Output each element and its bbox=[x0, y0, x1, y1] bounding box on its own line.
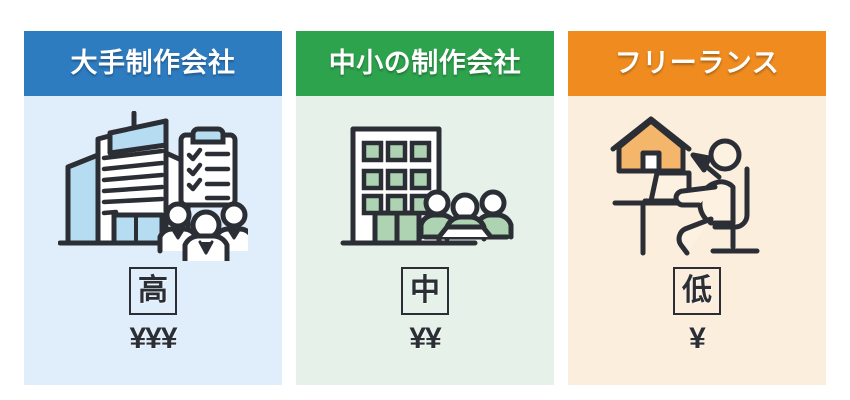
panel-small-medium-production-company: 中小の制作会社 bbox=[296, 31, 554, 385]
price-label-2: ¥¥ bbox=[409, 324, 440, 354]
level-box-2: 中 bbox=[401, 267, 449, 315]
level-box-3: 低 bbox=[673, 267, 721, 315]
small-office-building-meeting-icon bbox=[325, 108, 525, 263]
panel-header-2: 中小の制作会社 bbox=[296, 31, 554, 96]
price-label-3: ¥ bbox=[689, 324, 705, 354]
level-label-1: 高 bbox=[138, 276, 168, 306]
panel-body-1: 高 ¥¥¥ bbox=[24, 96, 282, 385]
comparison-board: 大手制作会社 bbox=[0, 0, 850, 400]
panel-title-3: フリーランス bbox=[615, 50, 779, 77]
level-box-1: 高 bbox=[129, 267, 177, 315]
freelancer-desk-home-icon bbox=[597, 108, 797, 263]
panel-header-3: フリーランス bbox=[568, 31, 826, 96]
panel-body-3: 低 ¥ bbox=[568, 96, 826, 385]
panel-header-1: 大手制作会社 bbox=[24, 31, 282, 96]
panel-title-2: 中小の制作会社 bbox=[329, 50, 522, 77]
panel-freelance: フリーランス bbox=[568, 31, 826, 385]
office-tower-clipboard-team-icon bbox=[53, 108, 253, 263]
level-label-3: 低 bbox=[682, 276, 712, 306]
panel-title-1: 大手制作会社 bbox=[71, 50, 236, 77]
price-label-1: ¥¥¥ bbox=[129, 324, 176, 354]
panel-large-production-company: 大手制作会社 bbox=[24, 31, 282, 385]
level-label-2: 中 bbox=[410, 276, 440, 306]
panel-body-2: 中 ¥¥ bbox=[296, 96, 554, 385]
